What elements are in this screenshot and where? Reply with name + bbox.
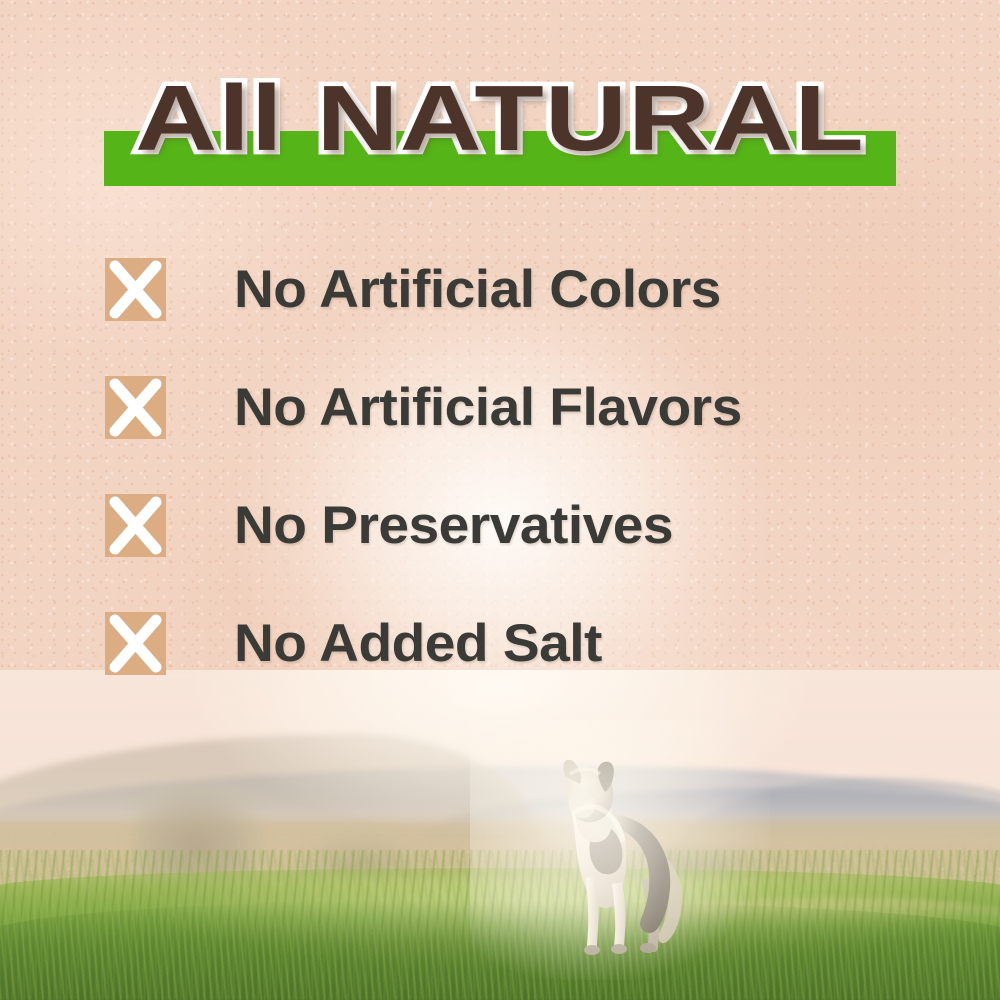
- x-mark-icon: [105, 376, 166, 439]
- list-item: No Artificial Flavors: [105, 376, 965, 438]
- x-mark-icon: [105, 612, 166, 675]
- poster: All NATURAL No Artificial Colors No Arti…: [0, 0, 1000, 1000]
- list-item: No Added Salt: [105, 612, 965, 674]
- feature-list: No Artificial Colors No Artificial Flavo…: [105, 258, 965, 730]
- list-item-label: No Preservatives: [234, 495, 673, 556]
- list-item: No Preservatives: [105, 494, 965, 556]
- dog-photo: [528, 760, 700, 956]
- x-mark-icon: [105, 258, 166, 321]
- x-mark-icon: [105, 494, 166, 557]
- list-item-label: No Added Salt: [234, 613, 602, 674]
- list-item-label: No Artificial Flavors: [234, 377, 742, 438]
- page-title: All NATURAL: [0, 72, 1000, 165]
- list-item: No Artificial Colors: [105, 258, 965, 320]
- list-item-label: No Artificial Colors: [234, 259, 721, 320]
- grass-blades: [0, 850, 1000, 1000]
